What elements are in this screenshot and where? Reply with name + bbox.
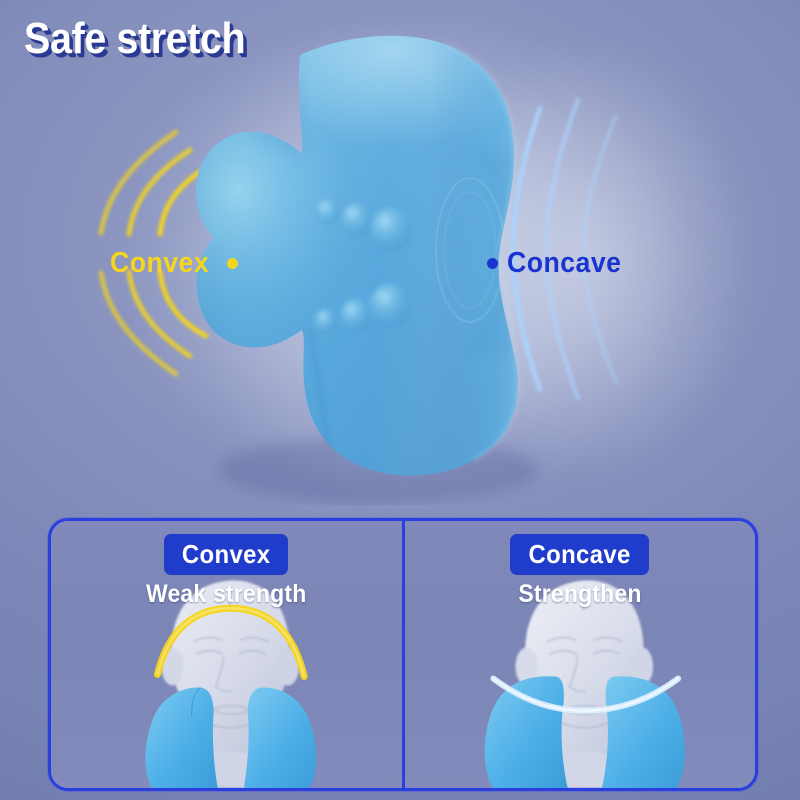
comparison-panel: Convex Weak strength [48,518,758,791]
convex-badge-label: Convex [182,541,271,567]
concave-badge: Concave [510,534,649,575]
comparison-panel-convex: Convex Weak strength [51,521,402,788]
convex-badge: Convex [164,534,288,575]
callout-concave: Concave [487,247,631,280]
convex-panel-header: Convex Weak strength [51,521,402,609]
convex-caption: Weak strength [51,580,402,609]
comparison-panel-concave: Concave Strengthen [402,521,756,788]
product-marketing-image: Convex Concave Safe stretch [0,0,800,800]
concave-caption: Strengthen [405,580,756,609]
concave-panel-header: Concave Strengthen [405,521,756,609]
page-title: Safe stretch [24,14,245,64]
callout-convex: Convex [110,247,238,280]
callout-convex-label: Convex [110,247,209,280]
callout-concave-label: Concave [507,247,621,280]
convex-marker-dot [227,258,238,269]
concave-badge-label: Concave [529,541,631,567]
concave-marker-dot [487,258,498,269]
